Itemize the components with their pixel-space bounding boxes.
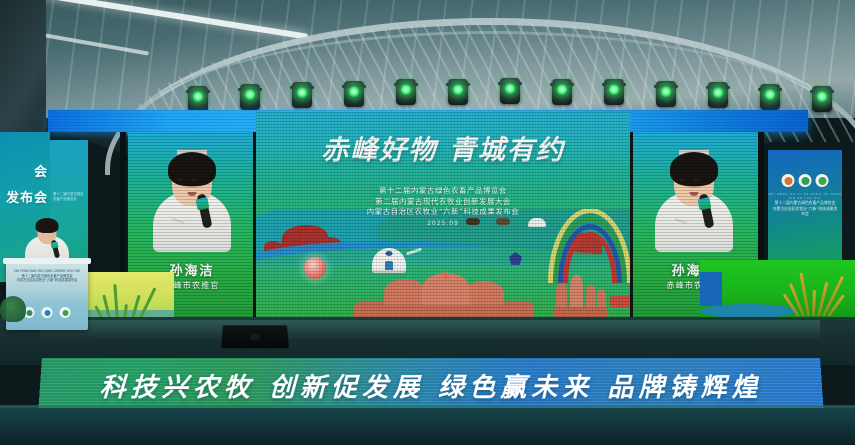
podium-logos [24, 307, 71, 318]
light-lens [245, 89, 256, 100]
screen-gap-right [630, 132, 633, 317]
light-lens [661, 86, 672, 97]
portrait-eye-right [191, 178, 197, 181]
stage-light-1 [188, 86, 208, 112]
monitor-cone [250, 334, 260, 340]
stage-light-3 [292, 82, 312, 108]
expo-logo-icon-3 [816, 174, 829, 187]
wall-left-line2: 发布会 [6, 186, 48, 212]
stage-floor-sheen [40, 320, 820, 340]
decorative-plant [0, 296, 26, 322]
stage-photo: 会 发布会 第十二届内蒙古绿色农畜产品博览会 NEI MENG GU LU SE… [0, 0, 855, 445]
podium-top [3, 258, 91, 264]
light-lens [505, 83, 516, 94]
stage-light-7 [500, 78, 520, 104]
stage-light-8 [552, 79, 572, 105]
portrait-eye-right [693, 178, 699, 181]
light-lens [401, 84, 412, 95]
stage-light-10 [656, 81, 676, 107]
podium-pinyin: CHI FENG HAO WU QING CHENG YOU YUE [10, 269, 84, 274]
portrait-eye-left [177, 178, 183, 181]
event-date: 2025.09 [256, 220, 630, 227]
yurt-door [385, 261, 393, 270]
wall-right-pinyin: NEI MENG GU LU SE NONG XU CHAN PIN BO LA… [768, 192, 842, 200]
stage-light-4 [344, 81, 364, 107]
stage-light-11 [708, 82, 728, 108]
stage-light-2 [240, 84, 260, 110]
wheat-stalk-4 [812, 290, 816, 316]
speaker-portrait-right [652, 144, 736, 252]
speaker-mic-flag [50, 241, 58, 249]
event-subtitles: 第十二届内蒙古绿色农畜产品博览会 第二届内蒙古现代农牧业创新发展大会 内蒙古自治… [256, 186, 630, 218]
stage-light-5 [396, 79, 416, 105]
banner-slogan: 科技兴农牧 创新促发展 绿色赢未来 品牌铸辉煌 [39, 367, 823, 404]
wall-left-secondary-line1: 第十二届内蒙古绿色农畜产品博览会 [53, 192, 85, 202]
light-lens [349, 86, 360, 97]
mosque-dome-left [384, 279, 426, 305]
tower-base [554, 307, 608, 317]
subtitle-line-3: 内蒙古自治区农牧业“六新”科技成果发布会 [256, 207, 630, 218]
wall-left-line1: 会 [6, 160, 48, 186]
wing-water-shape [700, 304, 796, 318]
yurt-roof-vent [386, 251, 393, 256]
stage-light-6 [448, 79, 468, 105]
podium-text: CHI FENG HAO WU QING CHENG YOU YUE 第十二届内… [10, 269, 84, 283]
light-lens [765, 89, 776, 100]
wall-right-lines: 第十二届内蒙古绿色农畜产品博览会 内蒙古自治区农牧业“六新”科技成果发布会 [772, 200, 838, 217]
podium-line2: 内蒙古自治区农牧业“六新”科技成果发布会 [10, 278, 84, 283]
light-lens [453, 84, 464, 95]
mosque-dome-right [464, 281, 504, 305]
expo-logo-icon-2 [799, 174, 812, 187]
subtitle-line-1: 第十二届内蒙古绿色农畜产品博览会 [256, 186, 630, 197]
expo-logo-icon-1 [782, 174, 795, 187]
podium-logo-icon-2 [42, 307, 53, 318]
stage-wing-right [700, 260, 855, 322]
floor-monitor-speaker [221, 325, 289, 348]
mic-flag [195, 197, 209, 210]
stage-light-12 [760, 84, 780, 110]
speaker-portrait-left [150, 144, 234, 252]
light-lens [193, 91, 204, 102]
portrait-eye-left [679, 178, 685, 181]
light-lens [297, 87, 308, 98]
light-lens [713, 87, 724, 98]
wall-right-line2: 内蒙古自治区农牧业“六新”科技成果发布会 [772, 206, 838, 217]
stage-light-9 [604, 79, 624, 105]
tower-1 [556, 283, 567, 309]
mosque-spire [444, 271, 447, 281]
red-house-icon [610, 296, 630, 307]
led-screen-center: 赤峰好物 青城有约 第十二届内蒙古绿色农畜产品博览会 第二届内蒙古现代农牧业创新… [256, 112, 630, 317]
light-lens [817, 91, 828, 102]
subtitle-line-2: 第二届内蒙古现代农牧业创新发展大会 [256, 197, 630, 208]
stage-apron [0, 408, 855, 445]
portrait-hair-shade [670, 164, 718, 190]
screen-gap-left [253, 132, 256, 317]
speaker-hair [36, 218, 59, 233]
tomato-icon [304, 257, 326, 279]
mosque-building [348, 275, 538, 317]
tower-2 [570, 275, 583, 309]
wheat-stalks-graphic [789, 270, 833, 316]
wall-right-logos [782, 174, 829, 187]
grass-graphic-panel [88, 272, 174, 320]
sand-towers [554, 273, 608, 317]
stage-light-13 [812, 86, 832, 112]
wall-banner-left-text: 会 发布会 [6, 160, 48, 212]
light-lens [609, 84, 620, 95]
wall-right-line1: 第十二届内蒙古绿色农畜产品博览会 [772, 200, 838, 206]
podium-logo-icon-3 [60, 307, 71, 318]
tower-3 [586, 285, 596, 309]
mic-flag [697, 197, 711, 210]
light-lens [557, 84, 568, 95]
portrait-hair-shade [168, 164, 216, 190]
wing-blue-block [700, 272, 722, 306]
tower-4 [597, 289, 606, 309]
left-wall-shadow [0, 0, 46, 140]
event-title: 赤峰好物 青城有约 [256, 128, 630, 167]
